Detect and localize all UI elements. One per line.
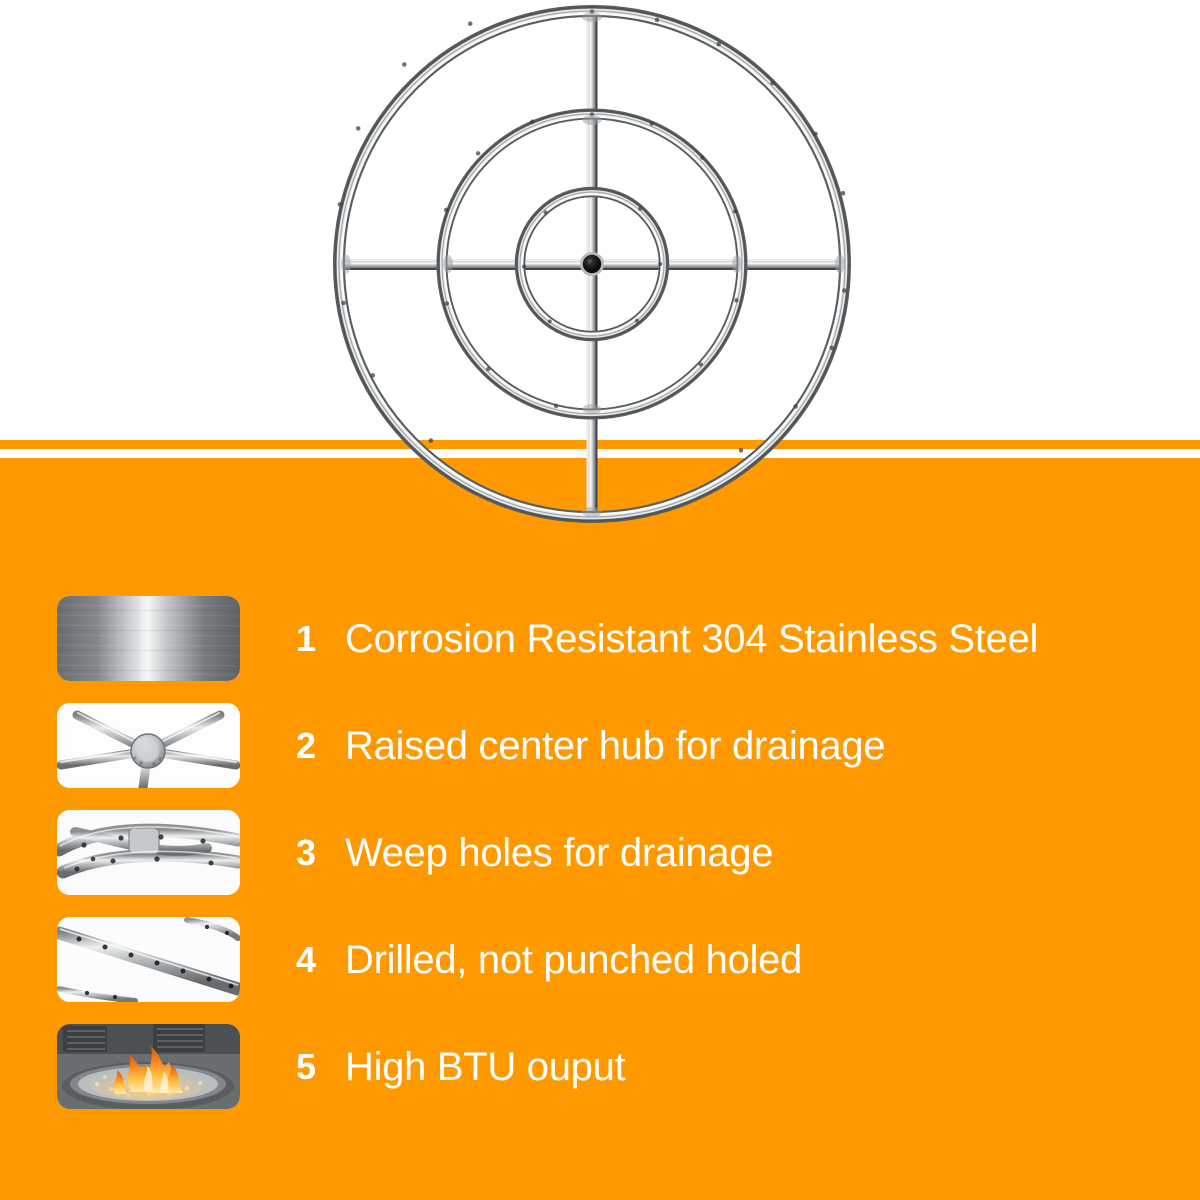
accent-stripe [0, 440, 1200, 449]
feature-number: 1 [296, 621, 336, 657]
brushed-stainless-sheet-thumbnail[interactable] [57, 596, 240, 681]
burner-inner-ring [517, 189, 667, 339]
burner-port-holes [338, 9, 847, 452]
infographic-page: 1 Corrosion Resistant 304 Stainless Stee… [0, 0, 1200, 1200]
feature-number: 4 [296, 942, 336, 978]
feature-label: High BTU ouput [345, 1047, 625, 1087]
feature-number: 2 [296, 728, 336, 764]
feature-row: 3 Weep holes for drainage [0, 799, 1200, 906]
burner-middle-ring [439, 111, 745, 417]
feature-list: 1 Corrosion Resistant 304 Stainless Stee… [0, 585, 1200, 1120]
feature-number: 3 [296, 835, 336, 871]
feature-row: 1 Corrosion Resistant 304 Stainless Stee… [0, 585, 1200, 692]
background-watermark [440, 535, 780, 575]
feature-row: 4 Drilled, not punched holed [0, 906, 1200, 1013]
center-hub-spokes-thumbnail[interactable] [57, 703, 240, 788]
weep-holes-tubing-thumbnail[interactable] [57, 810, 240, 895]
feature-row: 2 Raised center hub for drainage [0, 692, 1200, 799]
feature-label: Raised center hub for drainage [345, 726, 885, 766]
burner-center-hub [580, 252, 604, 276]
drilled-holes-tube-thumbnail[interactable] [57, 917, 240, 1002]
feature-row: 5 High BTU ouput [0, 1013, 1200, 1120]
feature-number: 5 [296, 1049, 336, 1085]
stripe-white-gap [0, 449, 1200, 458]
feature-label: Drilled, not punched holed [345, 940, 802, 980]
feature-label: Corrosion Resistant 304 Stainless Steel [345, 619, 1038, 659]
feature-label: Weep holes for drainage [345, 833, 773, 873]
fire-pit-flames-thumbnail[interactable] [57, 1024, 240, 1109]
